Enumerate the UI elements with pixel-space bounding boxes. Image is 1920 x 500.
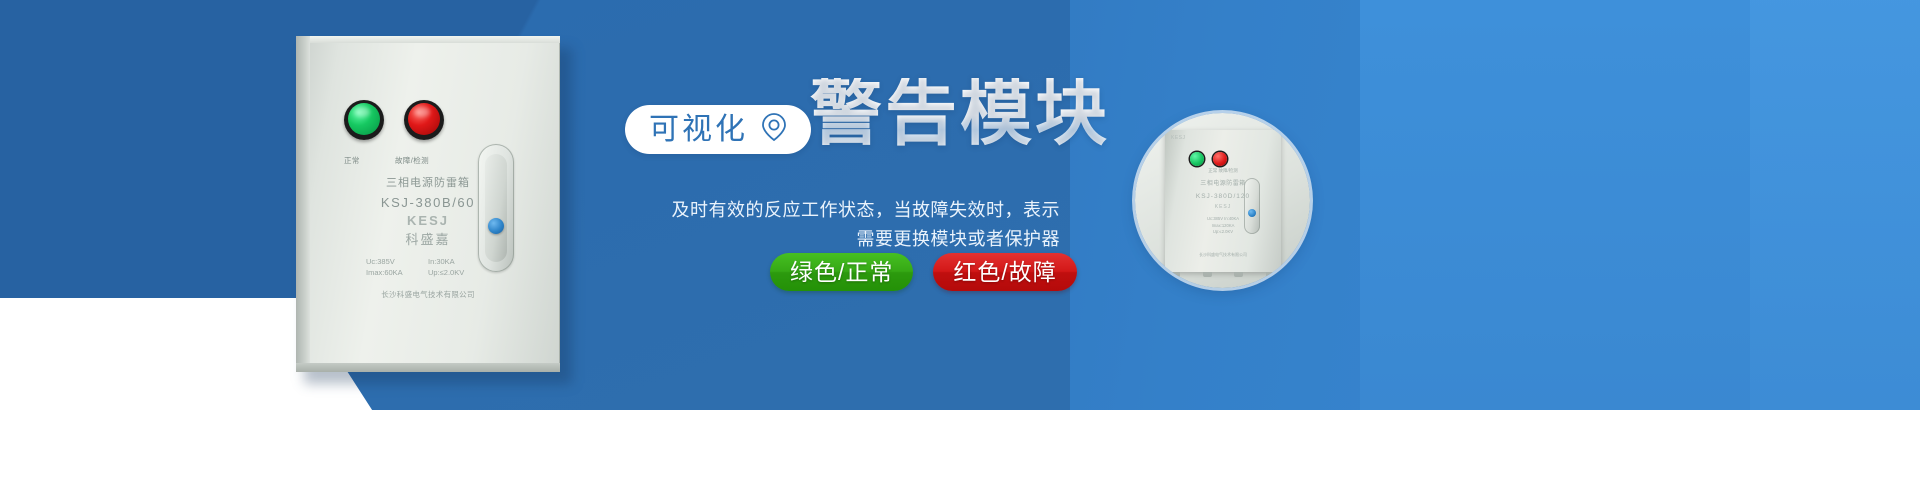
promo-banner: 正常 故障/检测 三相电源防雷箱 KSJ-380B/60 KESJ 科盛嘉 Uc… (0, 0, 1920, 500)
nameplate-model: KSJ-380B/60 (296, 195, 560, 210)
inset-red-indicator-lamp (1213, 152, 1227, 166)
inset-nameplate-model: KSJ-380D/120 (1165, 192, 1281, 202)
inset-foot (1203, 272, 1212, 277)
inset-foot (1234, 272, 1243, 277)
page-title: 警告模块 (810, 78, 1110, 150)
nameplate-title: 三相电源防雷箱 (296, 174, 560, 190)
green-lamp-label: 正常 (344, 155, 360, 166)
spec-imax: Imax:60KA (366, 267, 428, 278)
product-nameplate: 三相电源防雷箱 KSJ-380B/60 KESJ 科盛嘉 Uc:385VIn:3… (296, 174, 560, 300)
inset-nameplate-specs: Uc:385V In:40KA Imax:120KA Up:≤2.0KV (1165, 216, 1281, 236)
inset-spec-3: Up:≤2.0KV (1165, 229, 1281, 236)
lamp-highlight (414, 107, 430, 117)
banner-background-right-strip (1750, 0, 1920, 410)
red-indicator-lamp (404, 100, 444, 140)
red-lamp-label: 故障/检测 (395, 155, 429, 166)
inset-spec-1: Uc:385V In:40KA (1165, 216, 1281, 223)
inset-green-indicator-lamp (1190, 152, 1204, 166)
inset-logo: KESJ (1171, 135, 1186, 141)
green-indicator-lamp (344, 100, 384, 140)
status-badge-normal[interactable]: 绿色/正常 (770, 253, 913, 291)
nameplate-logo: KESJ (296, 213, 560, 228)
spec-in: In:30KA (428, 256, 490, 267)
location-pin-icon (761, 112, 787, 147)
visualization-pill-label: 可视化 (649, 115, 748, 145)
product-inset-thumbnail: KESJ 正常 故障/检测 三相电源防雷箱 KSJ-380D/120 KESJ … (1135, 113, 1310, 288)
product-photo: 正常 故障/检测 三相电源防雷箱 KSJ-380B/60 KESJ 科盛嘉 Uc… (296, 36, 560, 372)
visualization-pill[interactable]: 可视化 (625, 105, 811, 154)
inset-lamp-labels: 正常 故障/检测 (1165, 168, 1281, 175)
nameplate-specs: Uc:385VIn:30KA Imax:60KAUp:≤2.0KV (296, 256, 560, 279)
inset-nameplate-company: 长沙科盛电气技术有限公司 (1165, 252, 1281, 258)
inset-foot (1171, 272, 1180, 277)
cabinet-top-edge (296, 36, 560, 43)
status-badge-group: 绿色/正常 红色/故障 (770, 253, 1077, 291)
nameplate-brand: 科盛嘉 (296, 229, 560, 248)
inset-cabinet: KESJ 正常 故障/检测 三相电源防雷箱 KSJ-380D/120 KESJ … (1165, 130, 1281, 272)
inset-nameplate-logo: KESJ (1165, 204, 1281, 212)
subtitle-line-2: 需要更换模块或者保护器 (640, 225, 1060, 254)
banner-subtitle: 及时有效的反应工作状态，当故障失效时，表示 需要更换模块或者保护器 (640, 196, 1060, 254)
lamp-highlight (354, 107, 370, 117)
inset-foot (1266, 272, 1275, 277)
subtitle-line-1: 及时有效的反应工作状态，当故障失效时，表示 (640, 196, 1060, 225)
spec-up: Up:≤2.0KV (428, 267, 490, 278)
status-badge-fault[interactable]: 红色/故障 (933, 253, 1076, 291)
surge-protector-cabinet: 正常 故障/检测 三相电源防雷箱 KSJ-380B/60 KESJ 科盛嘉 Uc… (296, 36, 560, 372)
inset-nameplate-title: 三相电源防雷箱 (1165, 180, 1281, 189)
spec-uc: Uc:385V (366, 256, 428, 267)
cabinet-bottom-edge (296, 363, 560, 372)
inset-spec-2: Imax:120KA (1165, 223, 1281, 230)
inset-cabinet-feet (1171, 272, 1275, 277)
nameplate-company: 长沙科盛电气技术有限公司 (296, 289, 560, 300)
